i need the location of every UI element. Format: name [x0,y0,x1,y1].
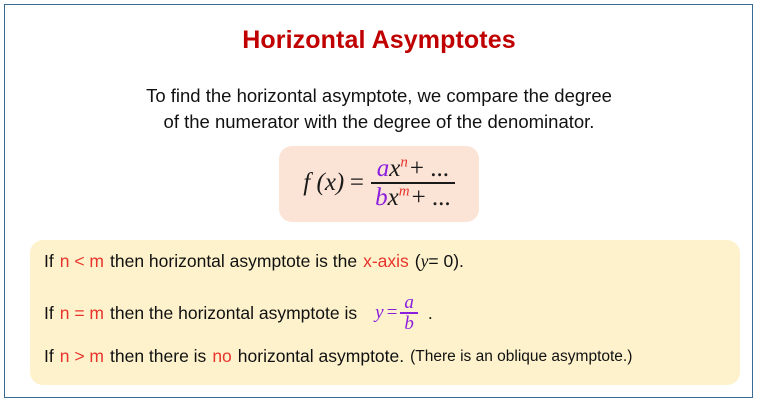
formula-lhs: f (x) [303,169,344,197]
formula-numerator: axn+ ... [373,155,453,182]
rule3-parenthetical: (There is an oblique asymptote.) [410,348,632,366]
rule2-prefix: If [44,303,54,324]
rule1-suffix: = 0). [428,251,464,272]
formula-denominator: bxm+ ... [371,184,455,211]
denominator-coefficient: b [375,184,388,211]
numerator-variable: x [389,155,400,182]
numerator-coefficient: a [377,155,390,182]
rule2-middle-text: then the horizontal asymptote is [110,303,357,324]
rule-case-n-less-than-m: If n < m then horizontal asymptote is th… [44,251,464,272]
rule3-highlight-no: no [212,346,231,367]
rule3-middle-text: then there is [110,346,206,367]
denominator-variable: x [388,184,399,211]
formula-equals-sign: = [348,169,365,197]
rule1-variable-y: y [421,251,429,272]
denominator-exponent: m [399,183,410,199]
rule3-condition: n > m [60,346,104,367]
rule3-middle-text-2: horizontal asymptote. [238,346,404,367]
rule-case-n-equals-m: If n = m then the horizontal asymptote i… [44,294,433,334]
numerator-tail: + ... [410,155,449,182]
rule2-numerator: a [400,293,418,312]
intro-line-1: To find the horizontal asymptote, we com… [79,83,679,109]
rule2-period: . [428,303,433,324]
rule2-eq-sign: = [386,302,399,324]
rational-function-equation: f (x) = axn+ ... bxm+ ... [303,155,454,213]
formula-box: f (x) = axn+ ... bxm+ ... [279,146,479,222]
denominator-tail: + ... [412,184,451,211]
rule3-prefix: If [44,346,54,367]
rule2-condition: n = m [60,303,104,324]
formula-fraction: axn+ ... bxm+ ... [371,155,455,211]
numerator-exponent: n [400,155,408,171]
slide-canvas: Horizontal Asymptotes To find the horizo… [0,0,758,403]
rule2-eq-lhs: y [375,302,383,324]
rule1-condition: n < m [60,251,104,272]
intro-line-2: of the numerator with the degree of the … [79,109,679,135]
rule2-fraction: a b [400,293,418,333]
asymptote-equation-y-equals-a-over-b: y = a b [375,293,418,333]
rules-box: If n < m then horizontal asymptote is th… [30,240,740,385]
rule-case-n-greater-than-m: If n > m then there is no horizontal asy… [44,346,632,367]
rule1-prefix: If [44,251,54,272]
page-title: Horizontal Asymptotes [0,26,758,55]
rule1-highlight-x-axis: x-axis [363,251,409,272]
rule1-middle-text: then horizontal asymptote is the [110,251,357,272]
rule2-denominator: b [400,314,418,333]
intro-paragraph: To find the horizontal asymptote, we com… [79,83,679,135]
